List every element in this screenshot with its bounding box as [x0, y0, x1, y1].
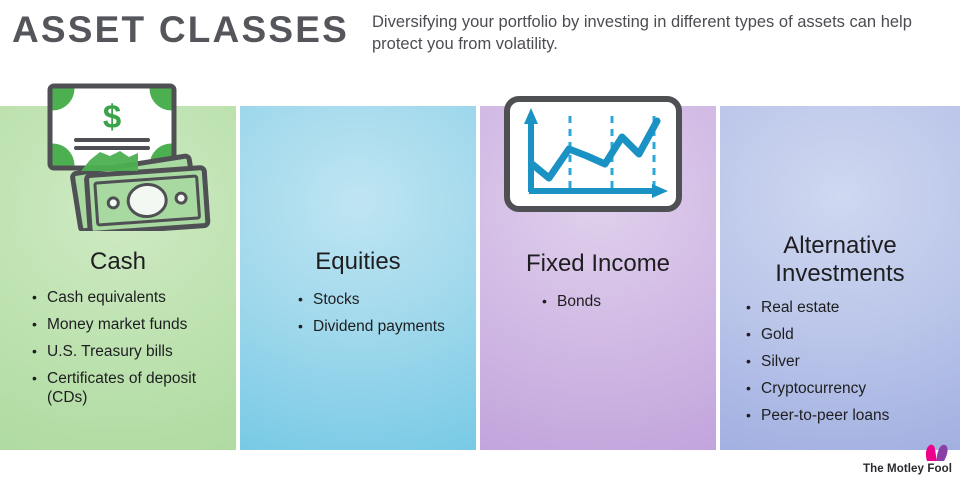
page-title: ASSET CLASSES	[12, 9, 349, 51]
line-chart-icon	[502, 94, 692, 219]
infographic-canvas: ASSET CLASSES Diversifying your portfoli…	[0, 0, 960, 480]
list-item: Dividend payments	[298, 317, 473, 336]
column-heading-cash: Cash	[0, 248, 236, 276]
bullet-list-fixed-income: Bonds	[542, 292, 712, 319]
bullet-list-equities: Stocks Dividend payments	[298, 290, 473, 344]
list-item: Certificates of deposit (CDs)	[32, 369, 232, 407]
list-item: Stocks	[298, 290, 473, 309]
list-item: Money market funds	[32, 315, 232, 334]
list-item: U.S. Treasury bills	[32, 342, 232, 361]
column-heading-fixed-income: Fixed Income	[480, 250, 716, 278]
bullet-list-alternative-investments: Real estate Gold Silver Cryptocurrency P…	[746, 298, 960, 433]
svg-text:$: $	[103, 98, 121, 135]
column-heading-equities: Equities	[240, 248, 476, 276]
list-item: Real estate	[746, 298, 960, 317]
list-item: Cryptocurrency	[746, 379, 960, 398]
list-item: Peer-to-peer loans	[746, 406, 960, 425]
column-background-equities	[240, 106, 476, 450]
column-heading-alternative-investments: Alternative Investments	[720, 232, 960, 288]
motley-fool-logo[interactable]: The Motley Fool	[863, 445, 952, 475]
logo-brand-text: The Motley Fool	[863, 463, 952, 475]
bullet-list-cash: Cash equivalents Money market funds U.S.…	[32, 288, 232, 415]
list-item: Gold	[746, 325, 960, 344]
banknotes-icon: $	[28, 76, 213, 231]
column-cash: $ Cash Cash equ	[0, 106, 236, 450]
column-equities: Equities Stocks Dividend payments	[240, 106, 476, 450]
list-item: Silver	[746, 352, 960, 371]
column-alternative-investments: B Alternative Investments Real estate Go…	[720, 106, 960, 450]
list-item: Cash equivalents	[32, 288, 232, 307]
list-item: Bonds	[542, 292, 712, 311]
subtitle-text: Diversifying your portfolio by investing…	[372, 11, 932, 55]
jester-hat-icon	[924, 443, 950, 461]
